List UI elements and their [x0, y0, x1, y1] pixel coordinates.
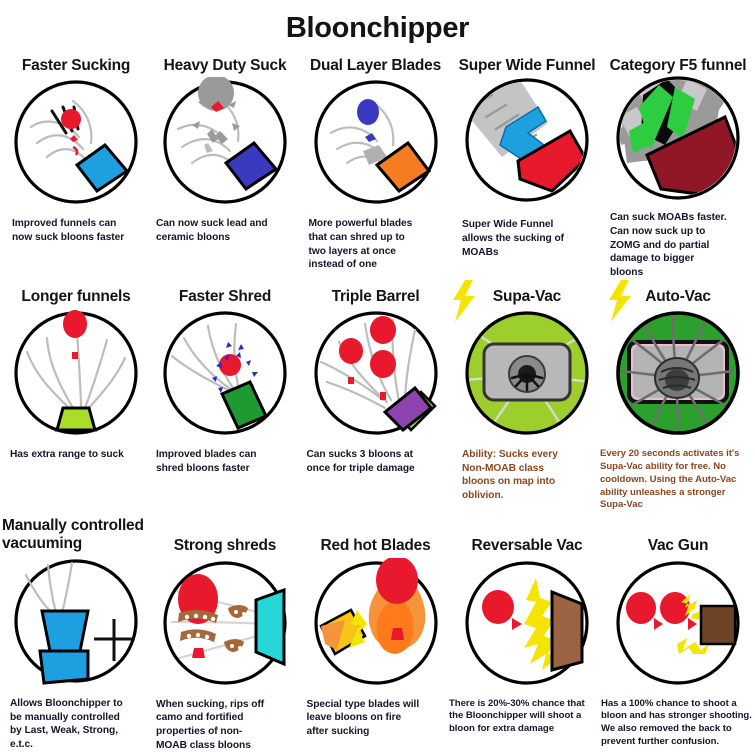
upgrade-title: Vac Gun [648, 537, 709, 554]
upgrade-card-manually-controlled-vacuuming[interactable]: Manually controlled vacuuming All [0, 517, 152, 751]
upgrade-title: Faster Sucking [22, 57, 130, 74]
upgrade-title: Category F5 funnel [610, 57, 747, 74]
upgrade-title: Super Wide Funnel [459, 57, 596, 74]
upgrade-art-funnel-green-shredding [160, 308, 290, 443]
upgrade-card-dual-layer-blades[interactable]: Dual Layer Blades More powerful b [298, 57, 453, 272]
upgrade-card-strong-shreds[interactable]: Strong shreds [152, 517, 298, 752]
upgrade-title: Supa-Vac [493, 288, 561, 305]
upgrade-art-brown-gun-shooting-two-bloons [613, 558, 743, 693]
upgrade-card-reversable-vac[interactable]: Reversable Vac There is 20%-30% chance t… [453, 517, 601, 736]
upgrade-desc: Every 20 seconds activates it's Supa-Vac… [600, 448, 752, 512]
upgrade-desc: Can now suck lead and ceramic bloons [156, 217, 292, 244]
upgrade-desc: Super Wide Funnel allows the sucking of … [462, 218, 598, 259]
upgrade-grid: Faster Sucking [0, 57, 755, 752]
upgrade-card-triple-barrel[interactable]: Triple Barrel [298, 288, 453, 476]
upgrade-title: Auto-Vac [645, 288, 711, 305]
upgrade-desc: Special type blades will leave bloons on… [307, 698, 447, 739]
upgrade-art-funnel-navy-ceramic-bloon [160, 77, 290, 212]
upgrade-art-funnel-red-moab [462, 75, 592, 210]
upgrade-card-super-wide-funnel[interactable]: Super Wide Funnel [453, 57, 601, 259]
upgrade-card-red-hot-blades[interactable]: Red hot Blades Special type blades will … [298, 517, 453, 738]
upgrade-desc: Improved blades can shred bloons faster [156, 448, 292, 475]
upgrade-art-supa-vac-ability [462, 308, 592, 443]
upgrade-art-funnel-green-long-range [11, 308, 141, 443]
upgrade-row-2: Longer funnels Has extra range [0, 288, 755, 513]
upgrade-desc: Can suck MOABs faster. Can now suck up t… [610, 211, 752, 279]
upgrade-desc: Ability: Sucks every Non-MOAB class bloo… [462, 448, 598, 503]
upgrade-row-3: Manually controlled vacuuming All [0, 517, 755, 752]
upgrade-title: Faster Shred [179, 288, 271, 305]
upgrade-art-funnel-darkred-zomg [613, 73, 743, 208]
upgrade-title: Longer funnels [21, 288, 130, 305]
upgrade-art-funnel-orange-blue-bloon [311, 77, 441, 212]
upgrade-art-funnel-purple-three-bloons [311, 308, 441, 443]
upgrade-art-fortified-bloon-cyan-funnel [160, 558, 290, 693]
upgrade-card-faster-sucking[interactable]: Faster Sucking [0, 57, 152, 245]
upgrade-card-auto-vac[interactable]: Auto-Vac [601, 288, 755, 513]
upgrade-card-faster-shred[interactable]: Faster Shred [152, 288, 298, 476]
upgrade-desc: Has a 100% chance to shoot a bloon and h… [601, 698, 753, 749]
upgrade-card-heavy-duty-suck[interactable]: Heavy Duty Suck [152, 57, 298, 245]
upgrade-desc: When sucking, rips off camo and fortifie… [156, 698, 292, 752]
upgrade-title: Heavy Duty Suck [164, 57, 287, 74]
upgrade-art-brown-funnel-shooting-bloon [462, 558, 592, 693]
upgrade-desc: There is 20%-30% chance that the Bloonch… [449, 698, 599, 737]
upgrade-art-burning-bloon-gold-funnel [311, 558, 441, 693]
upgrade-title: Dual Layer Blades [310, 57, 441, 74]
upgrade-desc: More powerful blades that can shred up t… [309, 217, 445, 272]
upgrade-art-auto-vac-ability [613, 308, 743, 443]
upgrade-card-category-f5-funnel[interactable]: Category F5 funnel [601, 57, 755, 280]
upgrade-title: Manually controlled vacuuming [0, 517, 144, 552]
upgrade-desc: Allows Bloonchipper to be manually contr… [10, 697, 150, 752]
upgrade-title: Triple Barrel [332, 288, 420, 305]
upgrade-desc: Can sucks 3 bloons at once for triple da… [307, 448, 447, 475]
page-title: Bloonchipper [0, 13, 755, 45]
upgrade-title: Reversable Vac [472, 537, 583, 554]
upgrade-title: Red hot Blades [320, 537, 430, 554]
upgrade-card-vac-gun[interactable]: Vac Gun Has a 100% chance to shoot a blo… [601, 517, 755, 749]
upgrade-art-funnel-blue-sucking-bloon [11, 77, 141, 212]
upgrade-desc: Improved funnels can now suck bloons fas… [12, 217, 144, 244]
upgrade-row-1: Faster Sucking [0, 57, 755, 280]
upgrade-desc: Has extra range to suck [10, 448, 146, 462]
upgrade-card-supa-vac[interactable]: Supa-Vac [453, 288, 601, 503]
upgrade-title: Strong shreds [174, 537, 276, 554]
upgrade-card-longer-funnels[interactable]: Longer funnels Has extra range [0, 288, 152, 462]
upgrade-art-funnel-targeting-crosshair [10, 555, 142, 692]
